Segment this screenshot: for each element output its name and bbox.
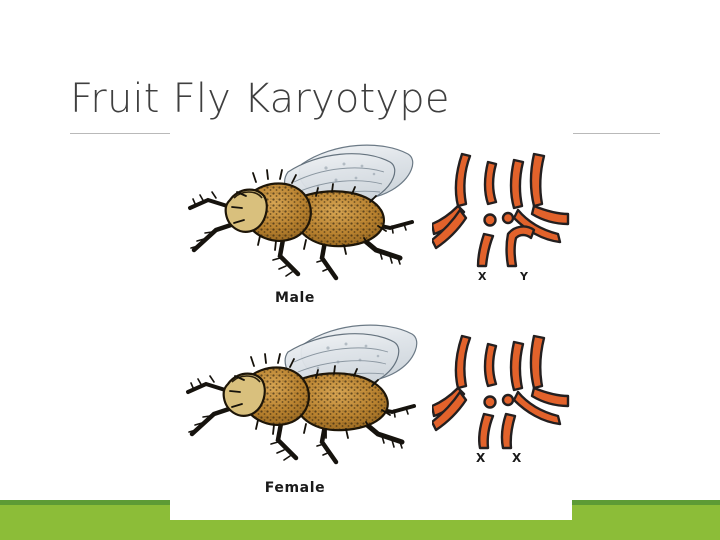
chromosome-label-x: X: [478, 270, 487, 283]
karyotype-figure: X Y Male: [170, 134, 572, 520]
slide: Fruit Fly Karyotype: [0, 0, 720, 540]
chromosome-label-x: X: [512, 451, 522, 465]
page-title: Fruit Fly Karyotype: [70, 76, 450, 122]
fruit-fly-illustration-icon: [176, 320, 426, 470]
title-underline-left: [70, 133, 170, 134]
fruit-fly-male-karyotype-icon: X Y: [432, 148, 572, 283]
panel-male: X Y Male: [170, 138, 572, 324]
panel-label-male: Male: [170, 290, 420, 306]
title-underline-right: [573, 133, 660, 134]
panel-label-female: Female: [170, 480, 420, 496]
chromosome-label-x: X: [476, 451, 486, 465]
chromosome-label-y: Y: [519, 270, 529, 283]
panel-female: X X Female: [170, 320, 572, 506]
fruit-fly-female-karyotype-icon: X X: [432, 330, 572, 465]
fruit-fly-illustration-icon: [176, 138, 426, 288]
